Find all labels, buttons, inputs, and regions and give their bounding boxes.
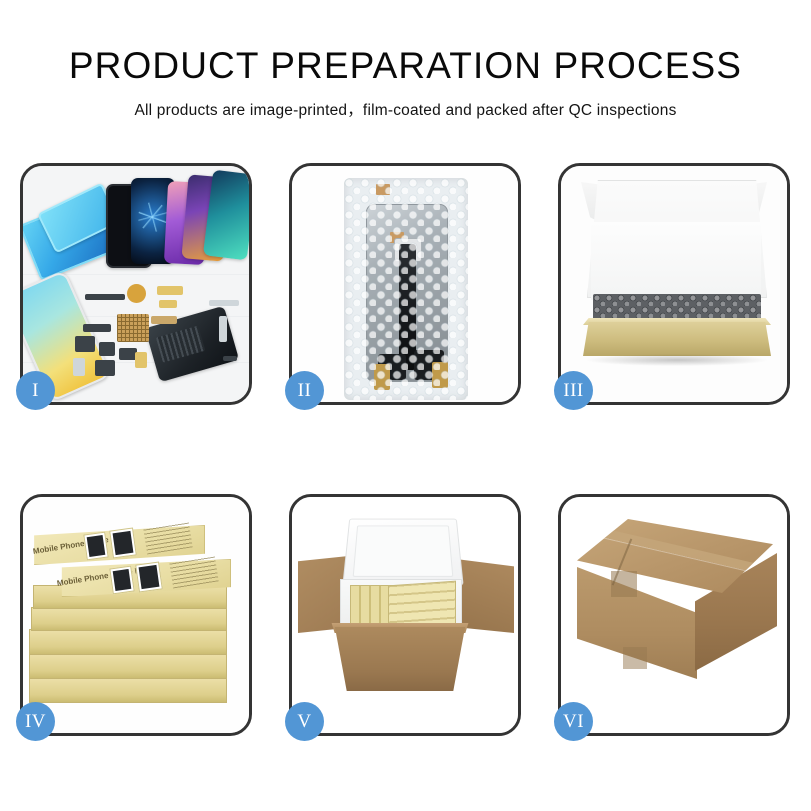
process-step-5[interactable]: V bbox=[289, 494, 521, 736]
carton-body bbox=[326, 627, 474, 691]
process-step-1[interactable]: I bbox=[20, 163, 252, 405]
open-inner-box-image bbox=[561, 166, 787, 402]
step-3-photo bbox=[561, 166, 787, 402]
foam-lined-carton-image bbox=[292, 497, 518, 733]
foam-lid bbox=[342, 519, 463, 586]
box-shadow bbox=[587, 354, 767, 366]
page-header: PRODUCT PREPARATION PROCESS All products… bbox=[0, 0, 811, 120]
carton-seam-lower bbox=[623, 647, 647, 669]
page-title: PRODUCT PREPARATION PROCESS bbox=[0, 0, 811, 86]
step-badge-1: I bbox=[16, 371, 55, 410]
step-badge-6: VI bbox=[554, 702, 593, 741]
step-5-photo bbox=[292, 497, 518, 733]
bubble-wrap-image bbox=[292, 166, 518, 402]
sealed-carton-image bbox=[561, 497, 787, 733]
step-4-photo: Mobile Phone Spare Parts Mobile Phone Sp… bbox=[23, 497, 249, 733]
yellow-box-base bbox=[583, 322, 771, 356]
process-step-4[interactable]: Mobile Phone Spare Parts Mobile Phone Sp… bbox=[20, 494, 252, 736]
step-badge-5: V bbox=[285, 702, 324, 741]
process-step-6[interactable]: VI bbox=[558, 494, 790, 736]
bubble-wrap-bag bbox=[344, 178, 468, 400]
step-1-photo bbox=[23, 166, 249, 402]
process-step-grid: I II bbox=[20, 163, 791, 736]
step-6-photo bbox=[561, 497, 787, 733]
carton-flap-right bbox=[456, 559, 514, 633]
bubble-texture bbox=[344, 178, 468, 400]
parts-collage-image bbox=[23, 166, 249, 402]
process-step-2[interactable]: II bbox=[289, 163, 521, 405]
step-badge-2: II bbox=[285, 371, 324, 410]
step-badge-4: IV bbox=[16, 702, 55, 741]
page-subtitle: All products are image-printed，film-coat… bbox=[0, 86, 811, 120]
step-badge-3: III bbox=[554, 371, 593, 410]
foam-sheet bbox=[591, 222, 761, 300]
process-step-3[interactable]: III bbox=[558, 163, 790, 405]
stacked-boxes-image: Mobile Phone Spare Parts Mobile Phone Sp… bbox=[23, 497, 249, 733]
step-2-photo bbox=[292, 166, 518, 402]
